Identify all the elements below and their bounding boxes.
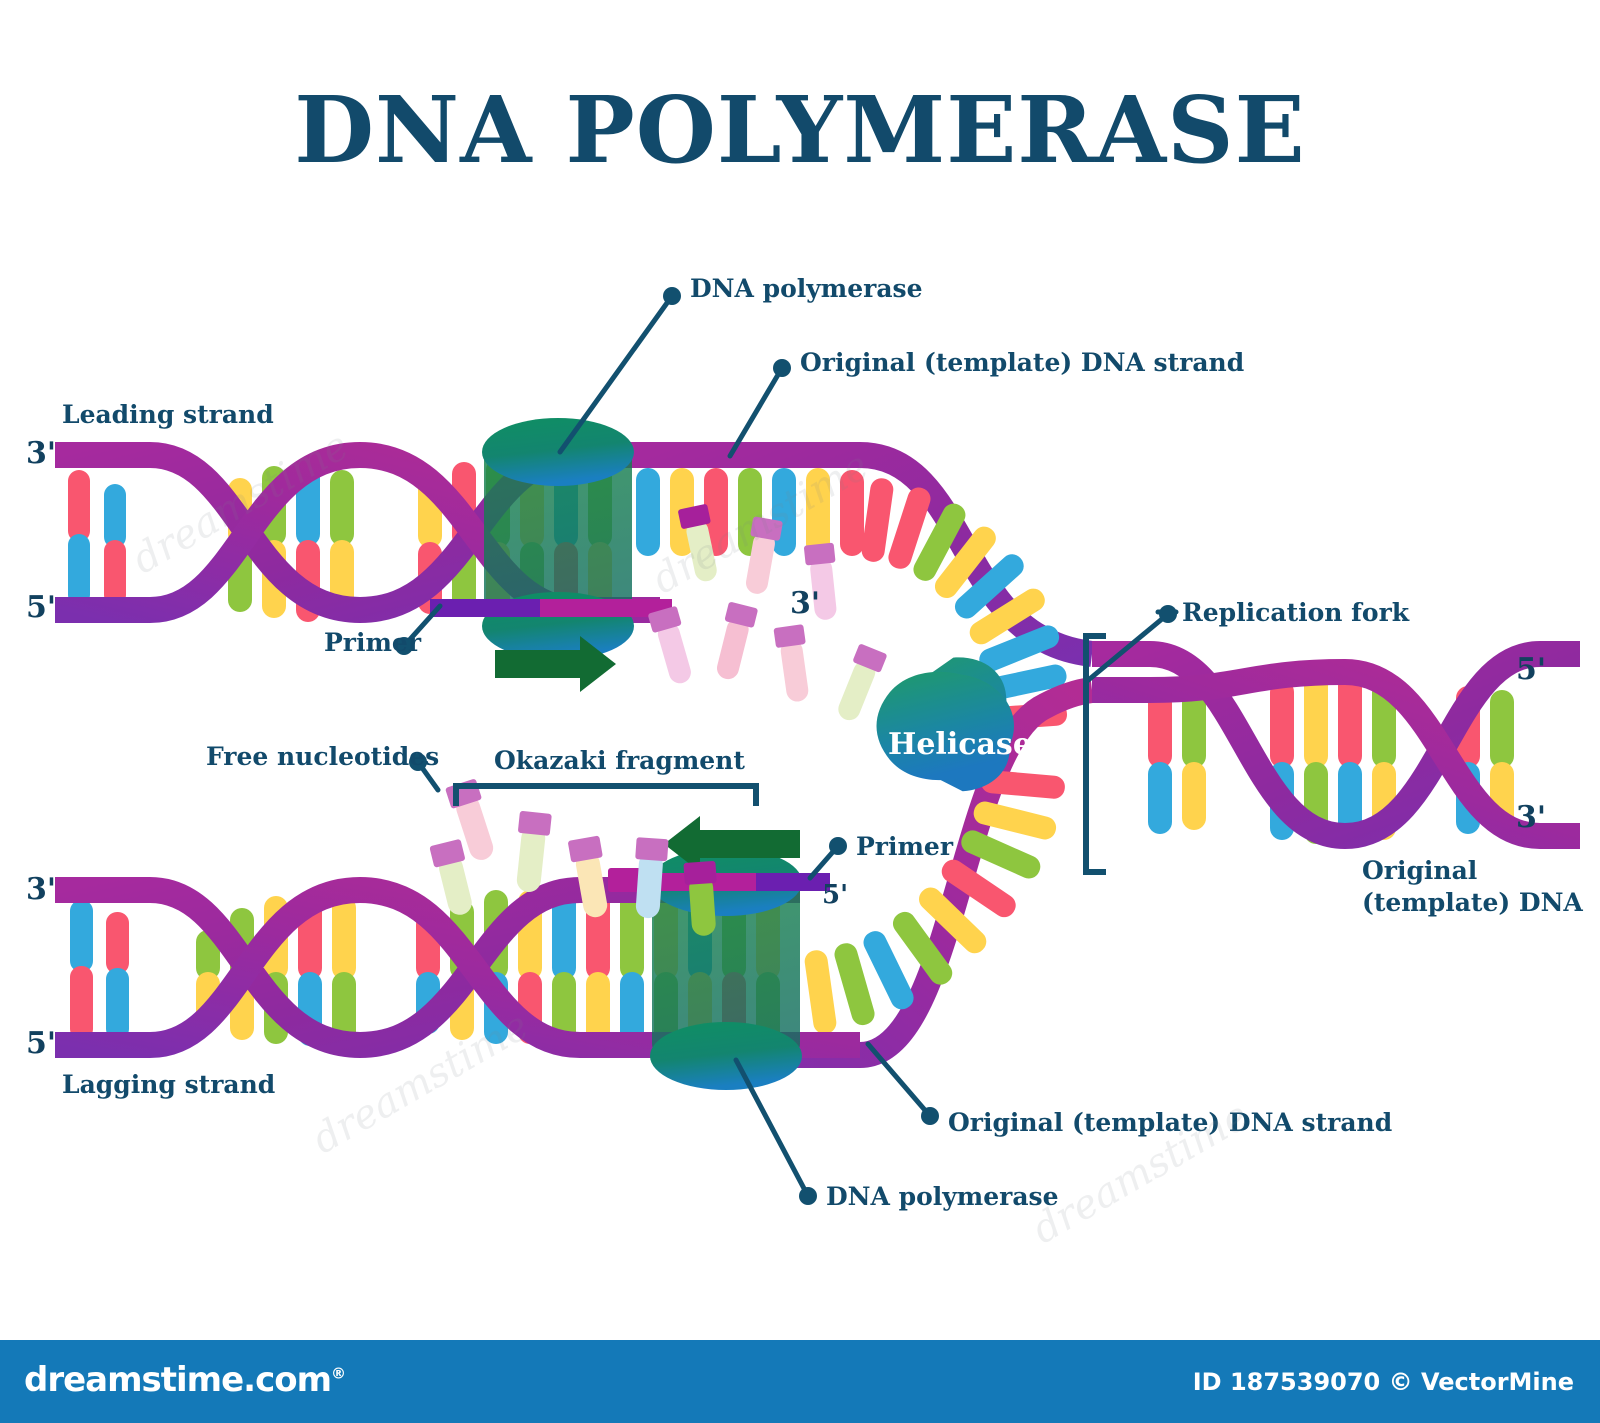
illustration-page: DNA POLYMERASE Leading strand Lagging st… [0,0,1600,1423]
dreamstime-logo-text: dreamstime.com [24,1360,331,1400]
marker-template-right-top: 5' [1516,652,1546,687]
label-original-template-strand-bottom: Original (template) DNA strand [948,1108,1392,1138]
right-template-helix [1092,654,1580,844]
dna-polymerase-leading[interactable] [482,418,634,660]
label-helicase: Helicase [888,727,1032,762]
label-okazaki-fragment: Okazaki fragment [494,746,745,776]
label-dna-polymerase-bottom: DNA polymerase [826,1182,1059,1212]
label-dna-polymerase-top: DNA polymerase [690,274,923,304]
label-free-nucleotides: Free nucleotides [206,742,439,772]
helicase-shape [877,654,1015,796]
okazaki-fragment-bracket [456,786,756,806]
marker-lagging-primer-end: 5' [822,880,848,910]
marker-leading-left-top: 3' [26,436,56,471]
marker-leading-free-end: 3' [790,586,820,621]
footer-bar: dreamstime.com® ID 187539070 © VectorMin… [0,1340,1600,1423]
image-credit: ID 187539070 © VectorMine [1193,1368,1574,1396]
label-replication-fork: Replication fork [1182,598,1409,628]
label-primer-lagging: Primer [856,832,953,862]
page-title: DNA POLYMERASE [0,84,1600,176]
marker-lagging-left-bottom: 5' [26,1026,56,1061]
label-lagging-strand: Lagging strand [62,1070,275,1100]
label-leading-strand: Leading strand [62,400,274,430]
dna-diagram-svg [0,0,1600,1340]
label-original-template-dna-line1: Original [1362,856,1477,886]
marker-leading-left-bottom: 5' [26,590,56,625]
label-original-template-dna-line2: (template) DNA [1362,888,1583,918]
registered-mark-icon: ® [331,1365,345,1383]
dreamstime-logo[interactable]: dreamstime.com® [24,1360,345,1400]
marker-template-right-bottom: 3' [1516,800,1546,835]
diagram-stage: DNA POLYMERASE Leading strand Lagging st… [0,0,1600,1340]
label-primer-leading: Primer [324,628,421,658]
label-original-template-strand-top: Original (template) DNA strand [800,348,1244,378]
marker-lagging-left-top: 3' [26,872,56,907]
